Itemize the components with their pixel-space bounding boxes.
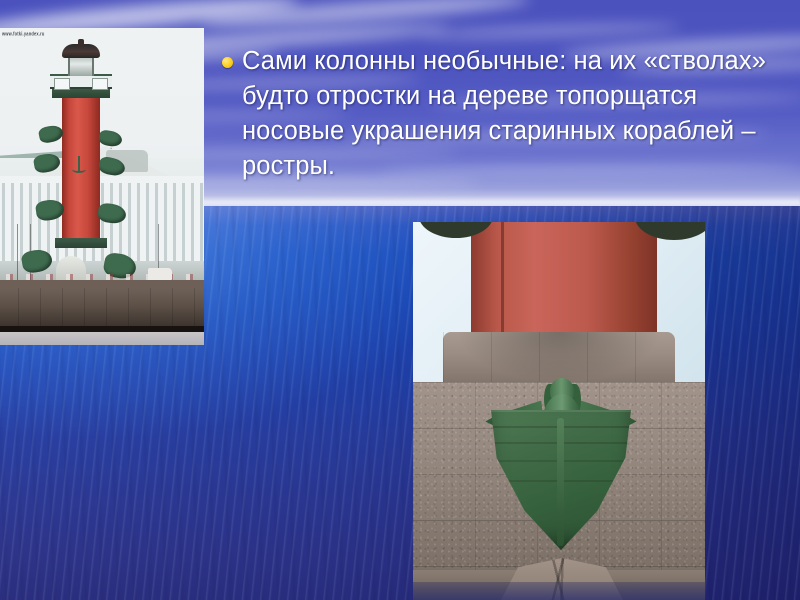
bullet-dot-icon	[222, 57, 233, 68]
column-lantern-cap	[62, 44, 100, 58]
bullet-text: Сами колонны необычные: на их «стволах» …	[242, 44, 782, 184]
rostrum-sculpture-photo[interactable]	[413, 222, 705, 600]
column-observation-gallery	[50, 74, 112, 89]
granite-embankment	[0, 288, 204, 328]
photo-bottom-shadow	[413, 582, 705, 600]
red-column-shaft	[471, 222, 657, 334]
column-lantern	[68, 56, 94, 76]
neva-river-water	[0, 332, 204, 345]
column-plinth	[55, 238, 107, 248]
cloud-wisp	[420, 21, 680, 40]
slide-body-text: Сами колонны необычные: на их «стволах» …	[222, 44, 782, 184]
photo-watermark: www.fotki.yandex.ru	[2, 30, 45, 37]
bullet-list-item: Сами колонны необычные: на их «стволах» …	[222, 44, 782, 184]
rostral-column-photo[interactable]: www.fotki.yandex.ru	[0, 28, 204, 345]
ship-prow-keel	[557, 418, 564, 546]
column-seam	[501, 222, 504, 334]
presentation-slide: www.fotki.yandex.ru Сами колонны необычн…	[0, 0, 800, 600]
column-finial	[78, 39, 84, 46]
white-van	[148, 268, 172, 280]
anchor-ornament-icon	[72, 156, 86, 172]
